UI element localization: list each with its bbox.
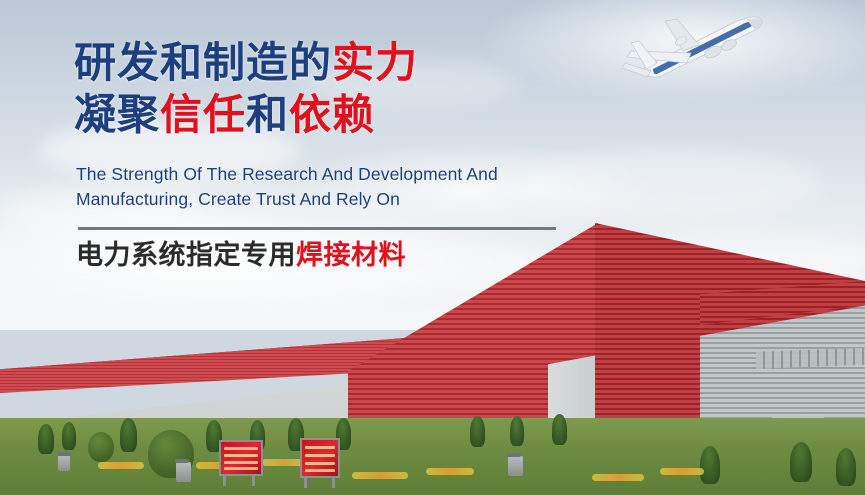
shrub bbox=[62, 422, 76, 450]
shrub bbox=[120, 418, 137, 452]
flower-bed bbox=[352, 472, 408, 479]
headline-line1-blue: 研发和制造的 bbox=[74, 39, 332, 86]
headline-line2-red-1: 信任 bbox=[160, 91, 246, 138]
headline-line1-red: 实力 bbox=[332, 39, 418, 86]
shrub bbox=[88, 432, 114, 462]
airplane-icon bbox=[617, 5, 777, 85]
trash-bin bbox=[508, 456, 523, 476]
shrub bbox=[38, 424, 54, 454]
shrub bbox=[790, 442, 812, 482]
shrub bbox=[510, 416, 524, 446]
flower-bed bbox=[426, 468, 474, 475]
headline-line-1: 研发和制造的实力 bbox=[74, 38, 418, 88]
trash-bin bbox=[58, 455, 70, 471]
headline-line2-red-2: 依赖 bbox=[289, 91, 375, 138]
trash-bin bbox=[176, 462, 191, 482]
headline-line2-blue-1: 凝聚 bbox=[74, 91, 160, 138]
shrub bbox=[700, 446, 720, 484]
hero-banner: 研发和制造的实力 凝聚信任和依赖 The Strength Of The Res… bbox=[0, 0, 865, 495]
red-billboard-right bbox=[300, 438, 340, 478]
shrub bbox=[836, 448, 856, 486]
headline-line2-blue-2: 和 bbox=[246, 91, 289, 138]
flower-bed bbox=[660, 468, 704, 475]
red-billboard-left bbox=[219, 440, 263, 476]
subtitle-line-1: The Strength Of The Research And Develop… bbox=[76, 162, 498, 187]
shrub bbox=[552, 414, 567, 445]
headline-line-2: 凝聚信任和依赖 bbox=[74, 90, 418, 140]
shrub bbox=[470, 416, 485, 447]
flower-bed bbox=[98, 462, 144, 469]
flower-bed bbox=[592, 474, 644, 481]
headline-block: 研发和制造的实力 凝聚信任和依赖 bbox=[74, 38, 418, 140]
